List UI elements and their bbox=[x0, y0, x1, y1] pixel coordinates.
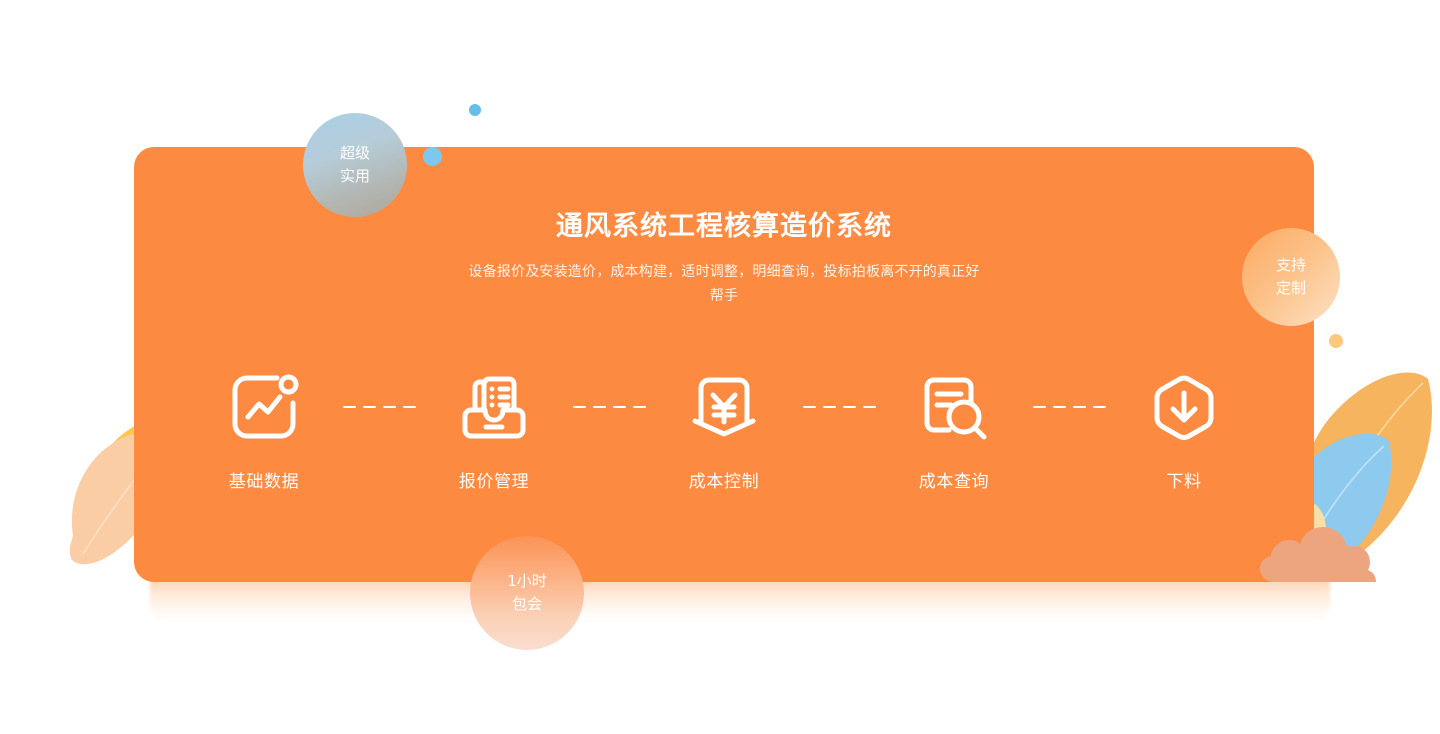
feature-label-quote-management: 报价管理 bbox=[459, 467, 529, 492]
connector-dashes-1 bbox=[328, 365, 430, 449]
page-title: 通风系统工程核算造价系统 bbox=[134, 211, 1314, 243]
badge-one-hour-mastery[interactable]: 1小时 包会 bbox=[470, 536, 584, 650]
badge-supports-customization-line2: 定制 bbox=[1276, 277, 1306, 300]
dot-blue-large bbox=[423, 147, 442, 166]
badge-one-hour-mastery-line1: 1小时 bbox=[507, 570, 547, 593]
dot-amber bbox=[1329, 334, 1343, 348]
badge-super-practical-line1: 超级 bbox=[340, 142, 370, 165]
feature-card: 通风系统工程核算造价系统 设备报价及安装造价，成本构建，适时调整，明细查询，投标… bbox=[134, 147, 1314, 582]
feature-item-material-cutting[interactable]: 下料 bbox=[1120, 365, 1248, 492]
yuan-banner-icon bbox=[682, 365, 766, 449]
dot-blue-small bbox=[469, 104, 481, 116]
promo-banner: 通风系统工程核算造价系统 设备报价及安装造价，成本构建，适时调整，明细查询，投标… bbox=[0, 0, 1440, 730]
feature-item-cost-query[interactable]: 成本查询 bbox=[890, 365, 1018, 492]
feature-label-material-cutting: 下料 bbox=[1166, 467, 1201, 492]
badge-supports-customization[interactable]: 支持 定制 bbox=[1242, 228, 1340, 326]
inbox-document-icon bbox=[452, 365, 536, 449]
card-shadow bbox=[150, 575, 1330, 627]
feature-item-basic-data[interactable]: 基础数据 bbox=[200, 365, 328, 492]
connector-dashes-2 bbox=[558, 365, 660, 449]
badge-super-practical-line2: 实用 bbox=[340, 165, 370, 188]
connector-dashes-4 bbox=[1018, 365, 1120, 449]
page-subtitle: 设备报价及安装造价，成本构建，适时调整，明细查询，投标拍板离不开的真正好帮手 bbox=[464, 260, 984, 308]
feature-item-cost-control[interactable]: 成本控制 bbox=[660, 365, 788, 492]
feature-label-cost-control: 成本控制 bbox=[689, 467, 759, 492]
leaf-amber-right bbox=[1299, 373, 1432, 573]
feature-label-basic-data: 基础数据 bbox=[229, 467, 299, 492]
hexagon-download-icon bbox=[1142, 365, 1226, 449]
chart-card-icon bbox=[222, 365, 306, 449]
badge-super-practical[interactable]: 超级 实用 bbox=[303, 113, 407, 217]
feature-list: 基础数据 bbox=[134, 365, 1314, 492]
feature-item-quote-management[interactable]: 报价管理 bbox=[430, 365, 558, 492]
badge-supports-customization-line1: 支持 bbox=[1276, 254, 1306, 277]
badge-one-hour-mastery-line2: 包会 bbox=[512, 593, 542, 616]
connector-dashes-3 bbox=[788, 365, 890, 449]
document-search-icon bbox=[912, 365, 996, 449]
feature-label-cost-query: 成本查询 bbox=[919, 467, 989, 492]
